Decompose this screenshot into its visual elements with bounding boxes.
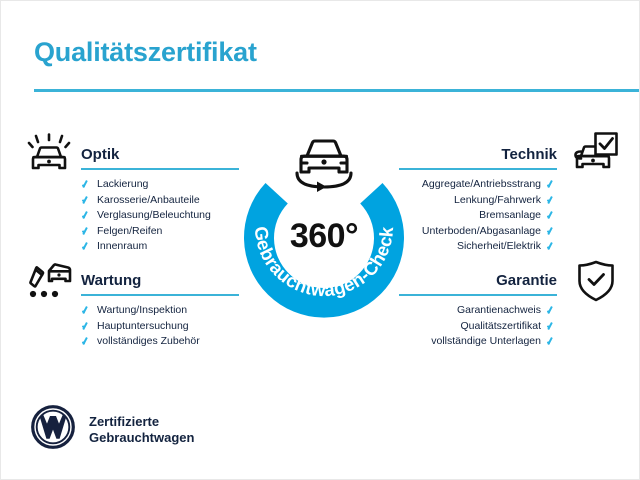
- list-item-label: Lackierung: [97, 177, 148, 193]
- list-item: vollständige Unterlagen: [399, 334, 557, 350]
- check-icon: [81, 179, 92, 190]
- section-technik: Technik Aggregate/Antriebsstrang Lenkung…: [399, 146, 557, 255]
- checklist-optik: Lackierung Karosserie/Anbauteile Verglas…: [81, 177, 239, 255]
- certificate-page: Qualitätszertifikat Optik Lackierung Kar…: [0, 0, 640, 480]
- list-item: vollständiges Zubehör: [81, 334, 239, 350]
- vw-logo-icon: [31, 405, 75, 454]
- list-item-label: Sicherheit/Elektrik: [457, 239, 541, 255]
- list-item: Lackierung: [81, 177, 239, 193]
- badge-360-gebrauchtwagen-check: Gebrauchtwagen-Check 360°: [229, 119, 419, 319]
- check-icon: [546, 195, 557, 206]
- checklist-technik: Aggregate/Antriebsstrang Lenkung/Fahrwer…: [399, 177, 557, 255]
- list-item-label: Bremsanlage: [479, 208, 541, 224]
- check-icon: [546, 336, 557, 347]
- footer-line-1: Zertifizierte: [89, 414, 194, 430]
- car-rotate-360-icon: [297, 141, 351, 192]
- checklist-garantie: Garantienachweis Qualitätszertifikat vol…: [399, 303, 557, 350]
- list-item: Lenkung/Fahrwerk: [399, 193, 557, 209]
- list-item-label: Karosserie/Anbauteile: [97, 193, 200, 209]
- section-title-garantie: Garantie: [399, 272, 557, 290]
- section-divider-technik: [399, 168, 557, 170]
- list-item: Bremsanlage: [399, 208, 557, 224]
- footer-text: Zertifizierte Gebrauchtwagen: [89, 414, 194, 446]
- list-item-label: Innenraum: [97, 239, 147, 255]
- badge-center-label: 360°: [290, 217, 358, 255]
- footer-brand: Zertifizierte Gebrauchtwagen: [31, 405, 194, 454]
- header-divider: [34, 89, 640, 92]
- list-item-label: Qualitätszertifikat: [460, 319, 541, 335]
- list-item-label: Felgen/Reifen: [97, 224, 162, 240]
- section-title-technik: Technik: [399, 146, 557, 164]
- list-item: Felgen/Reifen: [81, 224, 239, 240]
- check-icon: [81, 241, 92, 252]
- check-icon: [81, 321, 92, 332]
- footer-line-2: Gebrauchtwagen: [89, 430, 194, 446]
- list-item: Aggregate/Antriebsstrang: [399, 177, 557, 193]
- car-pencil-service-icon: [25, 259, 75, 308]
- check-icon: [546, 305, 557, 316]
- section-title-optik: Optik: [81, 146, 239, 164]
- section-wartung: Wartung Wartung/Inspektion Hauptuntersuc…: [81, 272, 239, 350]
- list-item-label: Aggregate/Antriebsstrang: [422, 177, 541, 193]
- list-item: Karosserie/Anbauteile: [81, 193, 239, 209]
- section-divider-optik: [81, 168, 239, 170]
- section-title-wartung: Wartung: [81, 272, 239, 290]
- list-item: Qualitätszertifikat: [399, 319, 557, 335]
- list-item-label: Lenkung/Fahrwerk: [454, 193, 541, 209]
- list-item: Garantienachweis: [399, 303, 557, 319]
- list-item: Hauptuntersuchung: [81, 319, 239, 335]
- list-item: Sicherheit/Elektrik: [399, 239, 557, 255]
- check-icon: [546, 321, 557, 332]
- shield-check-icon: [575, 259, 617, 310]
- car-checkbox-icon: [571, 131, 619, 182]
- check-icon: [81, 210, 92, 221]
- section-divider-wartung: [81, 294, 239, 296]
- check-icon: [546, 226, 557, 237]
- page-title: Qualitätszertifikat: [34, 37, 257, 68]
- section-optik: Optik Lackierung Karosserie/Anbauteile V…: [81, 146, 239, 255]
- list-item-label: Unterboden/Abgasanlage: [422, 224, 541, 240]
- list-item: Verglasung/Beleuchtung: [81, 208, 239, 224]
- car-shine-icon: [25, 133, 73, 182]
- list-item-label: Hauptuntersuchung: [97, 319, 189, 335]
- list-item: Wartung/Inspektion: [81, 303, 239, 319]
- check-icon: [546, 179, 557, 190]
- list-item-label: Garantienachweis: [457, 303, 541, 319]
- check-icon: [81, 195, 92, 206]
- check-icon: [546, 210, 557, 221]
- list-item-label: vollständige Unterlagen: [431, 334, 541, 350]
- check-icon: [81, 226, 92, 237]
- check-icon: [546, 241, 557, 252]
- section-divider-garantie: [399, 294, 557, 296]
- list-item-label: Wartung/Inspektion: [97, 303, 187, 319]
- check-icon: [81, 305, 92, 316]
- check-icon: [81, 336, 92, 347]
- list-item-label: vollständiges Zubehör: [97, 334, 200, 350]
- list-item: Unterboden/Abgasanlage: [399, 224, 557, 240]
- list-item: Innenraum: [81, 239, 239, 255]
- list-item-label: Verglasung/Beleuchtung: [97, 208, 211, 224]
- section-garantie: Garantie Garantienachweis Qualitätszerti…: [399, 272, 557, 350]
- checklist-wartung: Wartung/Inspektion Hauptuntersuchung vol…: [81, 303, 239, 350]
